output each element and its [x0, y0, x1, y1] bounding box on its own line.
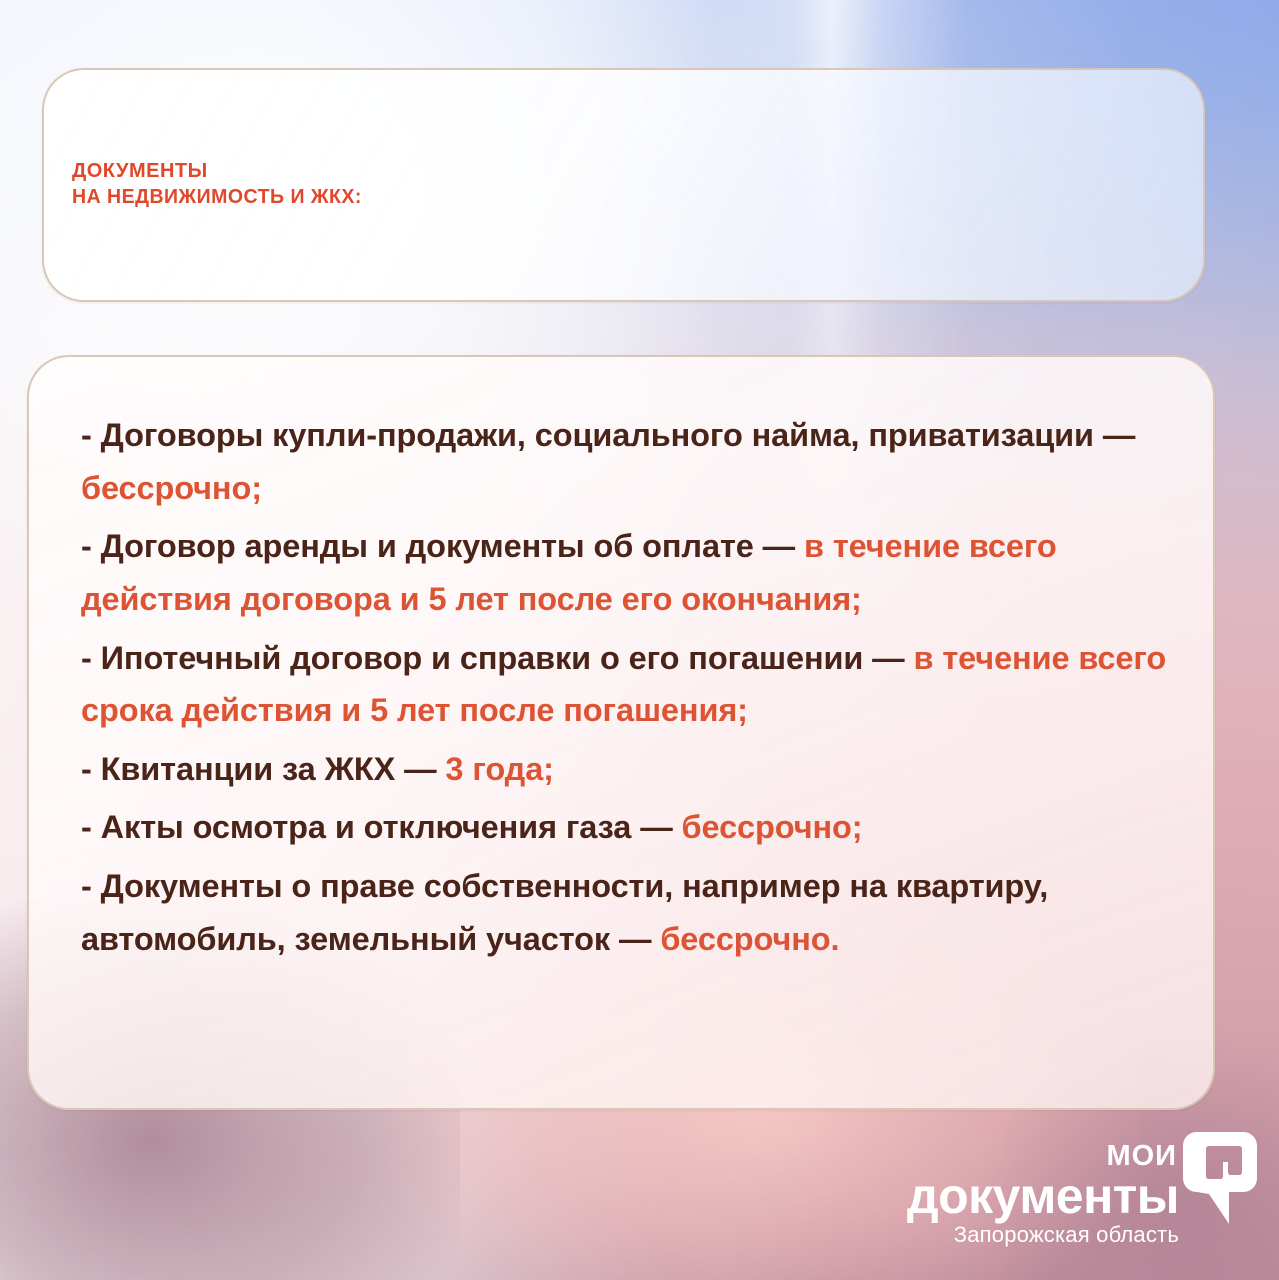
list-item-dash: — [631, 809, 681, 845]
list-item: - Договор аренды и документы об оплате —… [81, 520, 1173, 625]
list-item: - Акты осмотра и отключения газа — бесср… [81, 801, 1173, 854]
list-item: - Документы о праве собственности, напри… [81, 860, 1173, 965]
list-item-lead: - Ипотечный договор и справки о его пога… [81, 640, 863, 676]
list-item-lead: - Квитанции за ЖКХ [81, 751, 395, 787]
logo-region: Запорожская область [907, 1224, 1179, 1246]
list-item-lead: - Акты осмотра и отключения газа [81, 809, 631, 845]
list-item-lead: - Договор аренды и документы об оплате [81, 528, 754, 564]
list-item-term: бессрочно; [81, 470, 262, 506]
list-item-term: бессрочно. [660, 921, 839, 957]
list-item-lead: - Договоры купли-продажи, социального на… [81, 417, 1094, 453]
logo-top-word: МОИ [907, 1142, 1177, 1171]
poster-canvas: ДОКУМЕНТЫ НА НЕДВИЖИМОСТЬ И ЖКХ: - Догов… [0, 0, 1279, 1280]
list-item: - Квитанции за ЖКХ — 3 года; [81, 743, 1173, 796]
page-title-line-1: ДОКУМЕНТЫ [72, 159, 1203, 185]
list-item-lead: - Документы о праве собственности, напри… [81, 868, 1048, 957]
document-retention-list: - Договоры купли-продажи, социального на… [81, 409, 1173, 965]
list-item-dash: — [1094, 417, 1135, 453]
content-card: - Договоры купли-продажи, социального на… [27, 355, 1215, 1110]
list-item: - Ипотечный договор и справки о его пога… [81, 632, 1173, 737]
title-card: ДОКУМЕНТЫ НА НЕДВИЖИМОСТЬ И ЖКХ: [42, 68, 1205, 302]
list-item-dash: — [610, 921, 660, 957]
list-item: - Договоры купли-продажи, социального на… [81, 409, 1173, 514]
logo-main-word: документы [907, 1173, 1179, 1221]
page-title-line-2: НА НЕДВИЖИМОСТЬ И ЖКХ: [72, 185, 1175, 211]
list-item-dash: — [863, 640, 913, 676]
list-item-dash: — [754, 528, 804, 564]
mfc-logo: МОИ документы Запорожская область [989, 1134, 1257, 1246]
list-item-dash: — [395, 751, 445, 787]
list-item-term: 3 года; [445, 751, 553, 787]
mfc-shield-icon [1183, 1132, 1257, 1224]
list-item-term: бессрочно; [682, 809, 863, 845]
logo-text-block: МОИ документы Запорожская область [907, 1142, 1179, 1247]
